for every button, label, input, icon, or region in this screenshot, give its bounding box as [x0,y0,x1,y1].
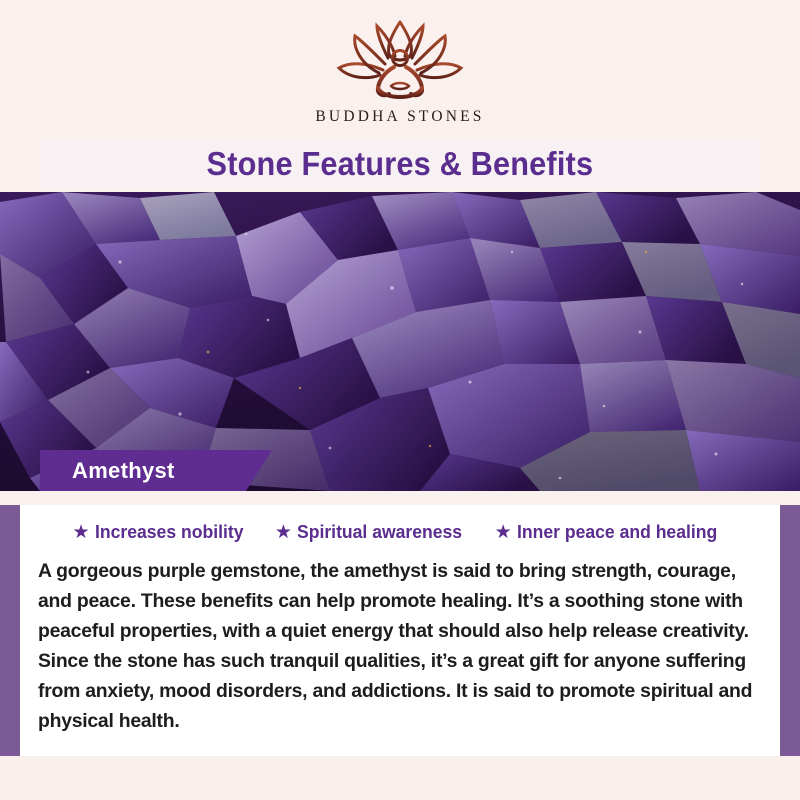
benefit-item-3: ★ Inner peace and healing [495,521,728,543]
frame-left-accent [0,490,20,800]
benefit-item-2: ★ Spiritual awareness [275,521,471,543]
header: BUDDHA STONES Stone Features & Benefits [0,0,800,192]
star-icon: ★ [73,523,90,542]
benefit-label: Increases nobility [95,521,243,543]
infographic-page: BUDDHA STONES Stone Features & Benefits [0,0,800,800]
star-icon: ★ [275,523,292,542]
brand-logo: BUDDHA STONES [0,18,800,126]
benefit-item-1: ★ Increases nobility [73,521,251,543]
stone-name: Amethyst [72,458,175,484]
brand-name: BUDDHA STONES [0,108,800,126]
lotus-meditation-figure-icon [325,18,475,104]
benefit-label: Inner peace and healing [517,521,717,543]
page-title: Stone Features & Benefits [207,145,594,183]
benefits-list: ★ Increases nobility ★ Spiritual awarene… [20,517,780,545]
cream-divider-strip [0,491,800,505]
star-icon: ★ [495,523,512,542]
benefit-label: Spiritual awareness [297,521,462,543]
stone-name-banner: Amethyst [40,450,272,491]
footer-background [0,756,800,800]
stone-description: A gorgeous purple gemstone, the amethyst… [38,556,762,736]
page-title-band: Stone Features & Benefits [40,140,760,188]
amethyst-crystal-photo [0,192,800,491]
content-panel: ★ Increases nobility ★ Spiritual awarene… [20,505,780,756]
